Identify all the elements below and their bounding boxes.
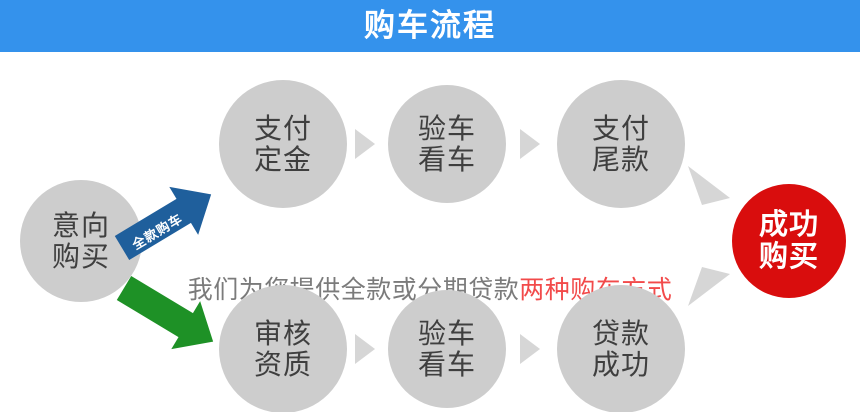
arrow-triangle-top-to-success <box>686 164 736 214</box>
node-pay-balance-line1: 支付 <box>592 113 650 144</box>
node-inspect-car-bottom-line2: 看车 <box>418 349 476 380</box>
node-review-qualification[interactable]: 审核 资质 <box>219 285 347 412</box>
chevron-right-icon-bottom-1 <box>355 334 375 364</box>
chevron-right-icon-bottom-2 <box>520 334 540 364</box>
node-purchase-success-line2: 购买 <box>759 241 819 273</box>
node-pay-balance[interactable]: 支付 尾款 <box>557 80 685 208</box>
page-title: 购车流程 <box>0 0 860 52</box>
node-inspect-car-bottom[interactable]: 验车 看车 <box>388 290 506 408</box>
node-intent-to-buy-line1: 意向 <box>52 210 110 241</box>
node-pay-deposit-line2: 定金 <box>254 144 312 175</box>
purchase-flow-infographic: 购车流程 意向 购买 全款购车 分期购车 <box>0 0 860 412</box>
node-review-qualification-line1: 审核 <box>254 318 312 349</box>
node-loan-approved-line2: 成功 <box>592 349 650 380</box>
header-banner: 购车流程 <box>0 0 860 52</box>
node-loan-approved-line1: 贷款 <box>592 318 650 349</box>
node-intent-to-buy-line2: 购买 <box>52 241 110 272</box>
node-pay-deposit-line1: 支付 <box>254 113 312 144</box>
node-inspect-car-top-line1: 验车 <box>418 113 476 144</box>
node-inspect-car-bottom-line1: 验车 <box>418 318 476 349</box>
node-loan-approved[interactable]: 贷款 成功 <box>557 285 685 412</box>
node-inspect-car-top-line2: 看车 <box>418 144 476 175</box>
arrow-triangle-bottom-to-success <box>686 260 736 310</box>
node-review-qualification-line2: 资质 <box>254 349 312 380</box>
node-purchase-success-line1: 成功 <box>759 209 819 241</box>
node-purchase-success[interactable]: 成功 购买 <box>732 184 846 298</box>
node-inspect-car-top[interactable]: 验车 看车 <box>388 85 506 203</box>
chevron-right-icon-top-2 <box>520 129 540 159</box>
flow-diagram: 意向 购买 全款购车 分期购车 支付 定金 <box>0 52 860 412</box>
node-pay-deposit[interactable]: 支付 定金 <box>219 80 347 208</box>
node-pay-balance-line2: 尾款 <box>592 144 650 175</box>
chevron-right-icon-top-1 <box>355 129 375 159</box>
